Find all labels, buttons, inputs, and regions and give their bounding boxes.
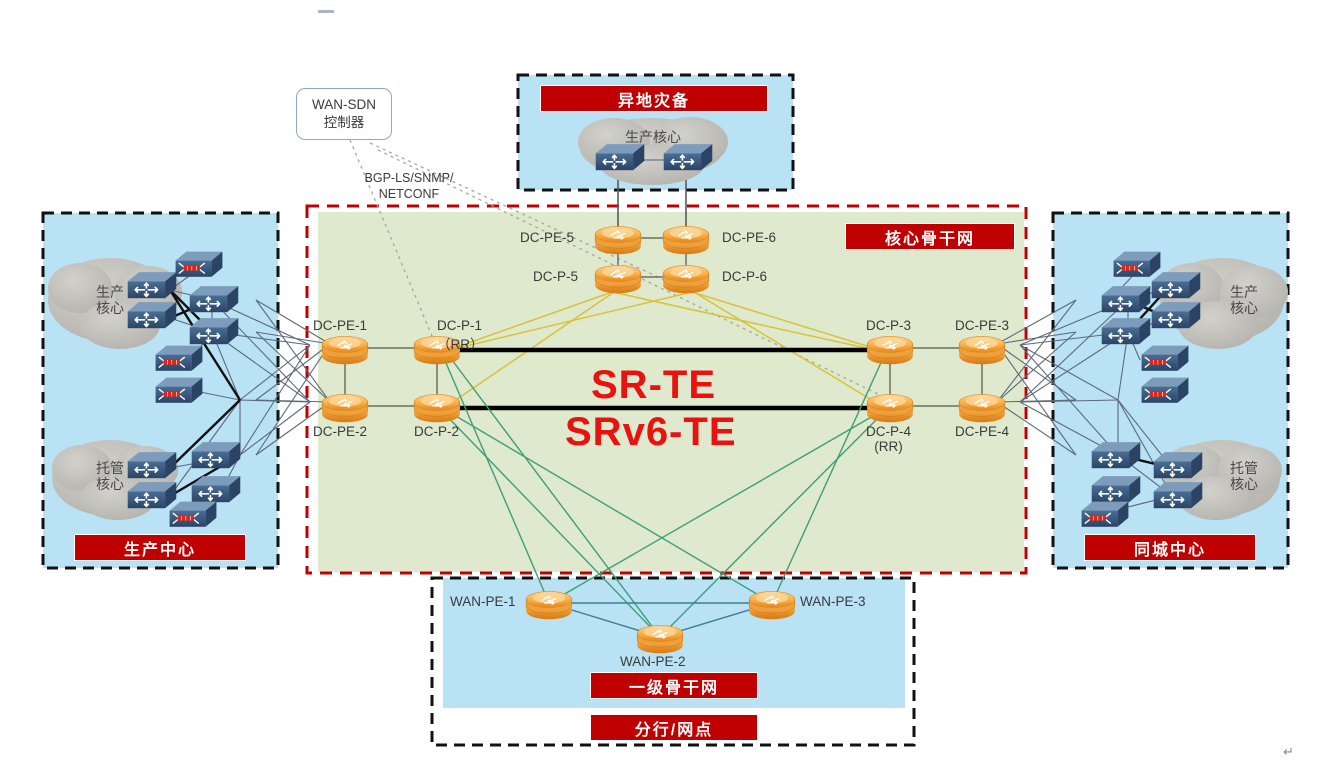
router-label-dc-pe-2: DC-PE-2 <box>313 424 367 439</box>
cloud-right-prod-line1: 生产 <box>1208 284 1280 300</box>
router-label-name-wan-pe-3: WAN-PE-3 <box>800 594 866 609</box>
protocol-label-line1: BGP-LS/SNMP/ <box>344 170 474 186</box>
cloud-left-prod-line1: 生产 <box>74 284 146 300</box>
router-label-name-dc-pe-3: DC-PE-3 <box>955 318 1009 333</box>
zone-label-remote-dr: 异地灾备 <box>540 85 768 112</box>
router-label-name-dc-pe-5: DC-PE-5 <box>520 230 574 245</box>
cloud-label-right-hosting-core: 托管 核心 <box>1208 460 1280 492</box>
router-label-name-dc-p-2: DC-P-2 <box>414 424 459 439</box>
router-label-dc-p-6: DC-P-6 <box>722 269 767 284</box>
router-label-name-dc-p-3: DC-P-3 <box>866 318 911 333</box>
zone-label-primary-backbone: 一级骨干网 <box>590 672 758 699</box>
router-wan-pe-1 <box>526 591 572 619</box>
router-dc-p-5 <box>595 265 641 293</box>
router-dc-pe-5 <box>595 226 641 254</box>
router-label-dc-p-3: DC-P-3 <box>866 318 911 333</box>
router-label-name-dc-p-6: DC-P-6 <box>722 269 767 284</box>
router-label-name-dc-pe-4: DC-PE-4 <box>955 424 1009 439</box>
cloud-right-host-line2: 核心 <box>1208 476 1280 492</box>
router-label-wan-pe-2: WAN-PE-2 <box>620 654 686 669</box>
zone-label-core-backbone: 核心骨干网 <box>845 223 1015 250</box>
router-label-dc-p-1: DC-P-1（RR） <box>437 318 484 353</box>
cloud-label-right-production-core: 生产 核心 <box>1208 284 1280 316</box>
protocol-label: BGP-LS/SNMP/ NETCONF <box>344 170 474 203</box>
zone-label-branch-site: 分行/网点 <box>590 714 758 741</box>
sdn-controller-line2: 控制器 <box>324 114 365 132</box>
top-artifact <box>318 10 334 13</box>
protocol-label-line2: NETCONF <box>344 186 474 202</box>
router-label-name-dc-p-5: DC-P-5 <box>533 269 578 284</box>
router-label-dc-pe-1: DC-PE-1 <box>313 318 367 333</box>
router-label-dc-pe-4: DC-PE-4 <box>955 424 1009 439</box>
diagram-canvas: WAN-SDN 控制器 BGP-LS/SNMP/ NETCONF 异地灾备 核心… <box>0 0 1338 783</box>
pilcrow-mark: ↵ <box>1283 744 1294 760</box>
cloud-left-host-line1: 托管 <box>74 460 146 476</box>
router-wan-pe-2 <box>637 625 683 653</box>
router-label-dc-pe-3: DC-PE-3 <box>955 318 1009 333</box>
cloud-label-left-production-core: 生产 核心 <box>74 284 146 316</box>
router-label-dc-p-5: DC-P-5 <box>533 269 578 284</box>
cloud-right-host-line1: 托管 <box>1208 460 1280 476</box>
router-label-wan-pe-3: WAN-PE-3 <box>800 594 866 609</box>
router-dc-p-2 <box>414 394 460 422</box>
router-label-name-wan-pe-2: WAN-PE-2 <box>620 654 686 669</box>
router-wan-pe-3 <box>749 591 795 619</box>
zone-label-production-center: 生产中心 <box>74 534 246 561</box>
router-dc-pe-4 <box>959 394 1005 422</box>
router-dc-pe-3 <box>959 336 1005 364</box>
cloud-label-dr-production-core: 生产核心 <box>607 129 699 145</box>
router-label-dc-p-4: DC-P-4(RR) <box>866 424 911 454</box>
router-label-name-dc-p-4: DC-P-4 <box>866 424 911 439</box>
router-dc-p-3 <box>867 336 913 364</box>
router-dc-pe-6 <box>663 226 709 254</box>
router-label-dc-pe-5: DC-PE-5 <box>520 230 574 245</box>
router-label-note-dc-p-4: (RR) <box>866 439 911 454</box>
router-label-name-wan-pe-1: WAN-PE-1 <box>450 594 516 609</box>
cloud-label-left-hosting-core: 托管 核心 <box>74 460 146 492</box>
router-label-name-dc-pe-1: DC-PE-1 <box>313 318 367 333</box>
wan-sdn-controller-box[interactable]: WAN-SDN 控制器 <box>296 88 392 140</box>
router-dc-pe-1 <box>322 336 368 364</box>
router-dc-p-6 <box>663 265 709 293</box>
center-tech-sr-te: SR-TE <box>591 363 716 408</box>
router-label-note-dc-p-1: （RR） <box>437 333 484 353</box>
router-label-wan-pe-1: WAN-PE-1 <box>450 594 516 609</box>
sdn-controller-line1: WAN-SDN <box>312 96 376 114</box>
cloud-right-prod-line2: 核心 <box>1208 300 1280 316</box>
router-label-name-dc-pe-6: DC-PE-6 <box>722 230 776 245</box>
center-tech-srv6-te: SRv6-TE <box>565 410 737 455</box>
router-dc-pe-2 <box>322 394 368 422</box>
cloud-left-host-line2: 核心 <box>74 476 146 492</box>
router-label-dc-p-2: DC-P-2 <box>414 424 459 439</box>
cloud-left-prod-line2: 核心 <box>74 300 146 316</box>
router-label-dc-pe-6: DC-PE-6 <box>722 230 776 245</box>
router-label-name-dc-p-1: DC-P-1 <box>437 318 484 333</box>
router-label-name-dc-pe-2: DC-PE-2 <box>313 424 367 439</box>
router-dc-p-4 <box>867 394 913 422</box>
zone-label-metro-center: 同城中心 <box>1084 534 1256 561</box>
